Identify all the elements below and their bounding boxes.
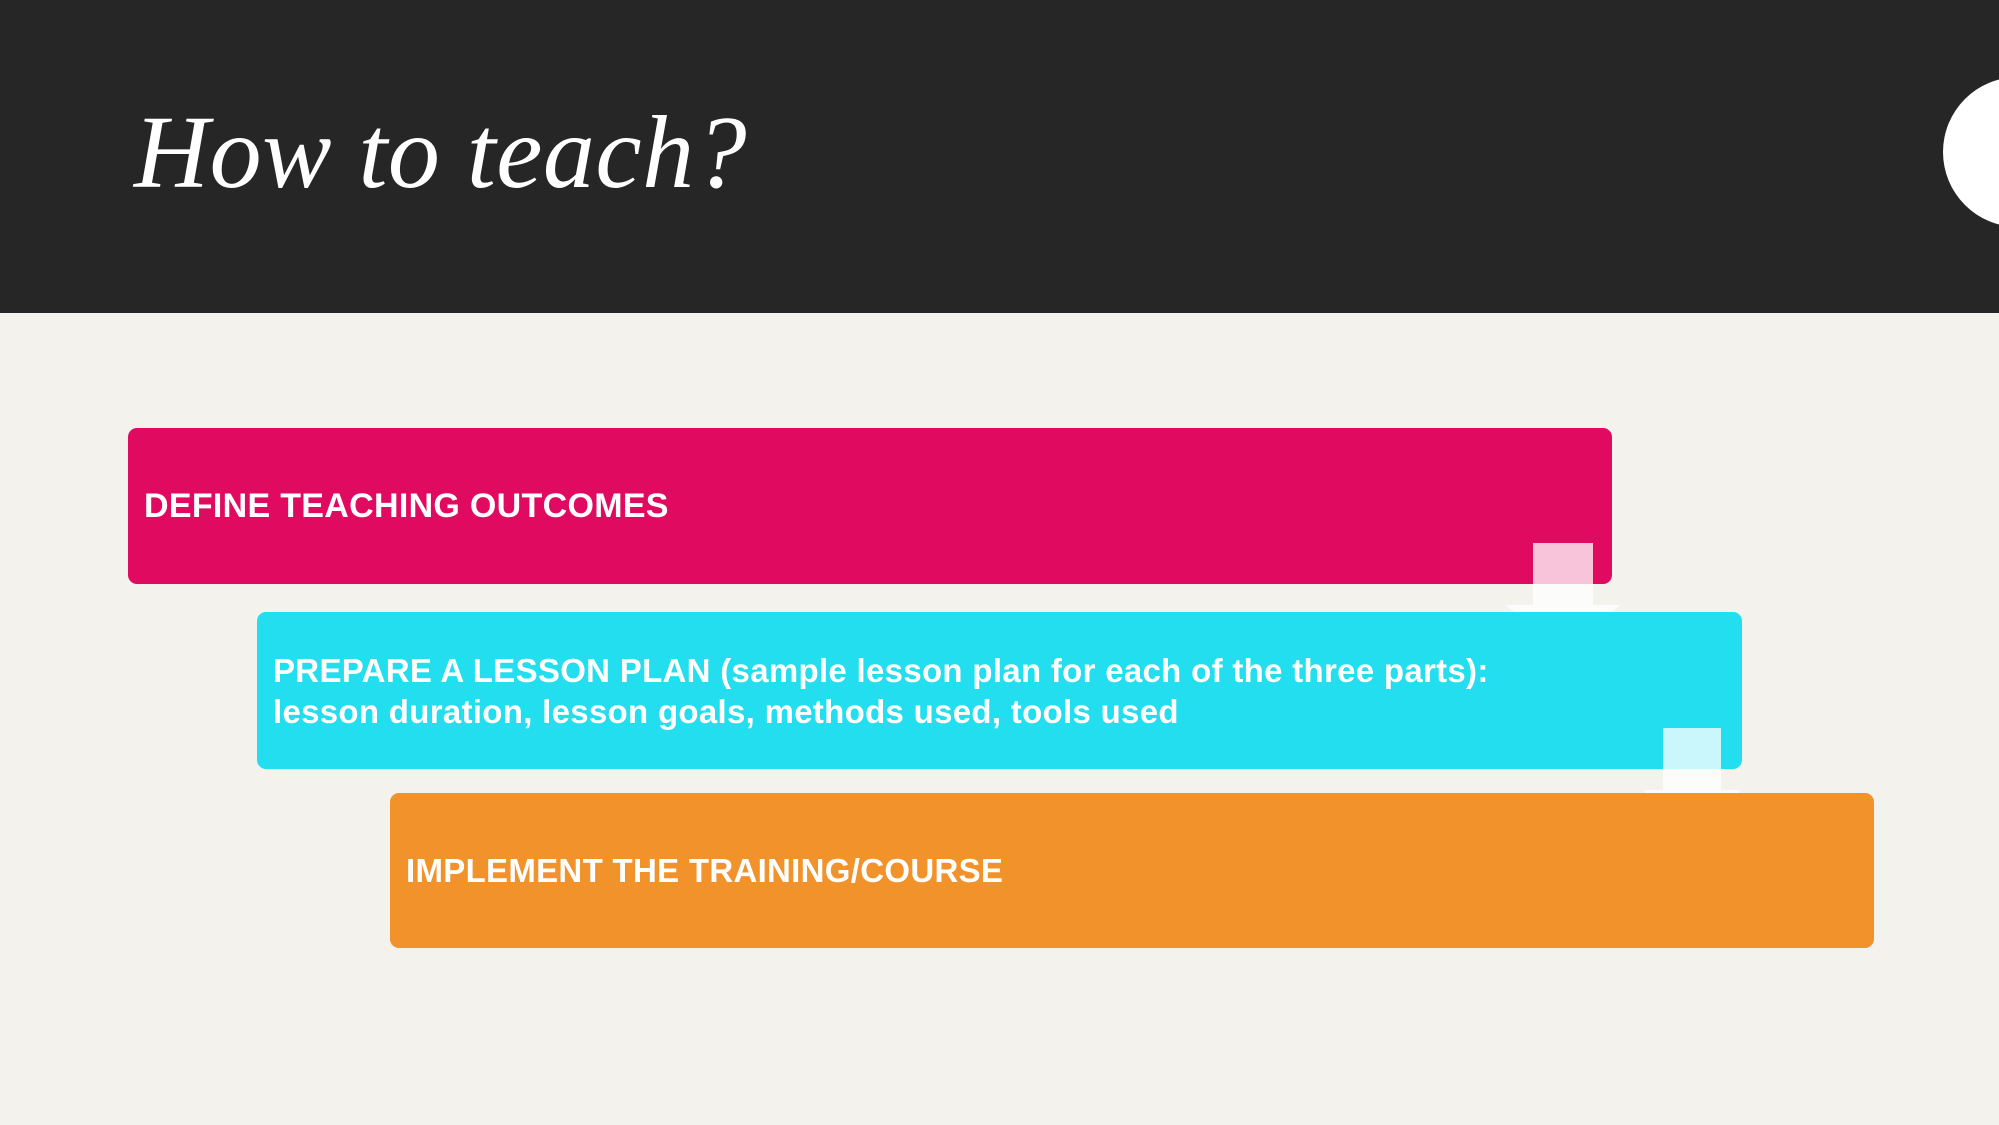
- slide-header-band: How to teach?: [0, 0, 1999, 313]
- step-banner-define-teaching-outcomes[interactable]: DEFINE TEACHING OUTCOMES: [128, 428, 1612, 584]
- step-banner-implement-the-training-course[interactable]: IMPLEMENT THE TRAINING/COURSE: [390, 793, 1874, 948]
- step-banner-label: IMPLEMENT THE TRAINING/COURSE: [406, 850, 1003, 891]
- presentation-slide: How to teach? DEFINE TEACHING OUTCOMES P…: [0, 0, 1999, 1125]
- page-title: How to teach?: [134, 98, 747, 208]
- circle-decoration-icon: [1943, 77, 1999, 227]
- step-banner-prepare-a-lesson-plan[interactable]: PREPARE A LESSON PLAN (sample lesson pla…: [257, 612, 1742, 769]
- step-banner-label: PREPARE A LESSON PLAN (sample lesson pla…: [273, 650, 1498, 732]
- step-banner-label: DEFINE TEACHING OUTCOMES: [144, 485, 669, 527]
